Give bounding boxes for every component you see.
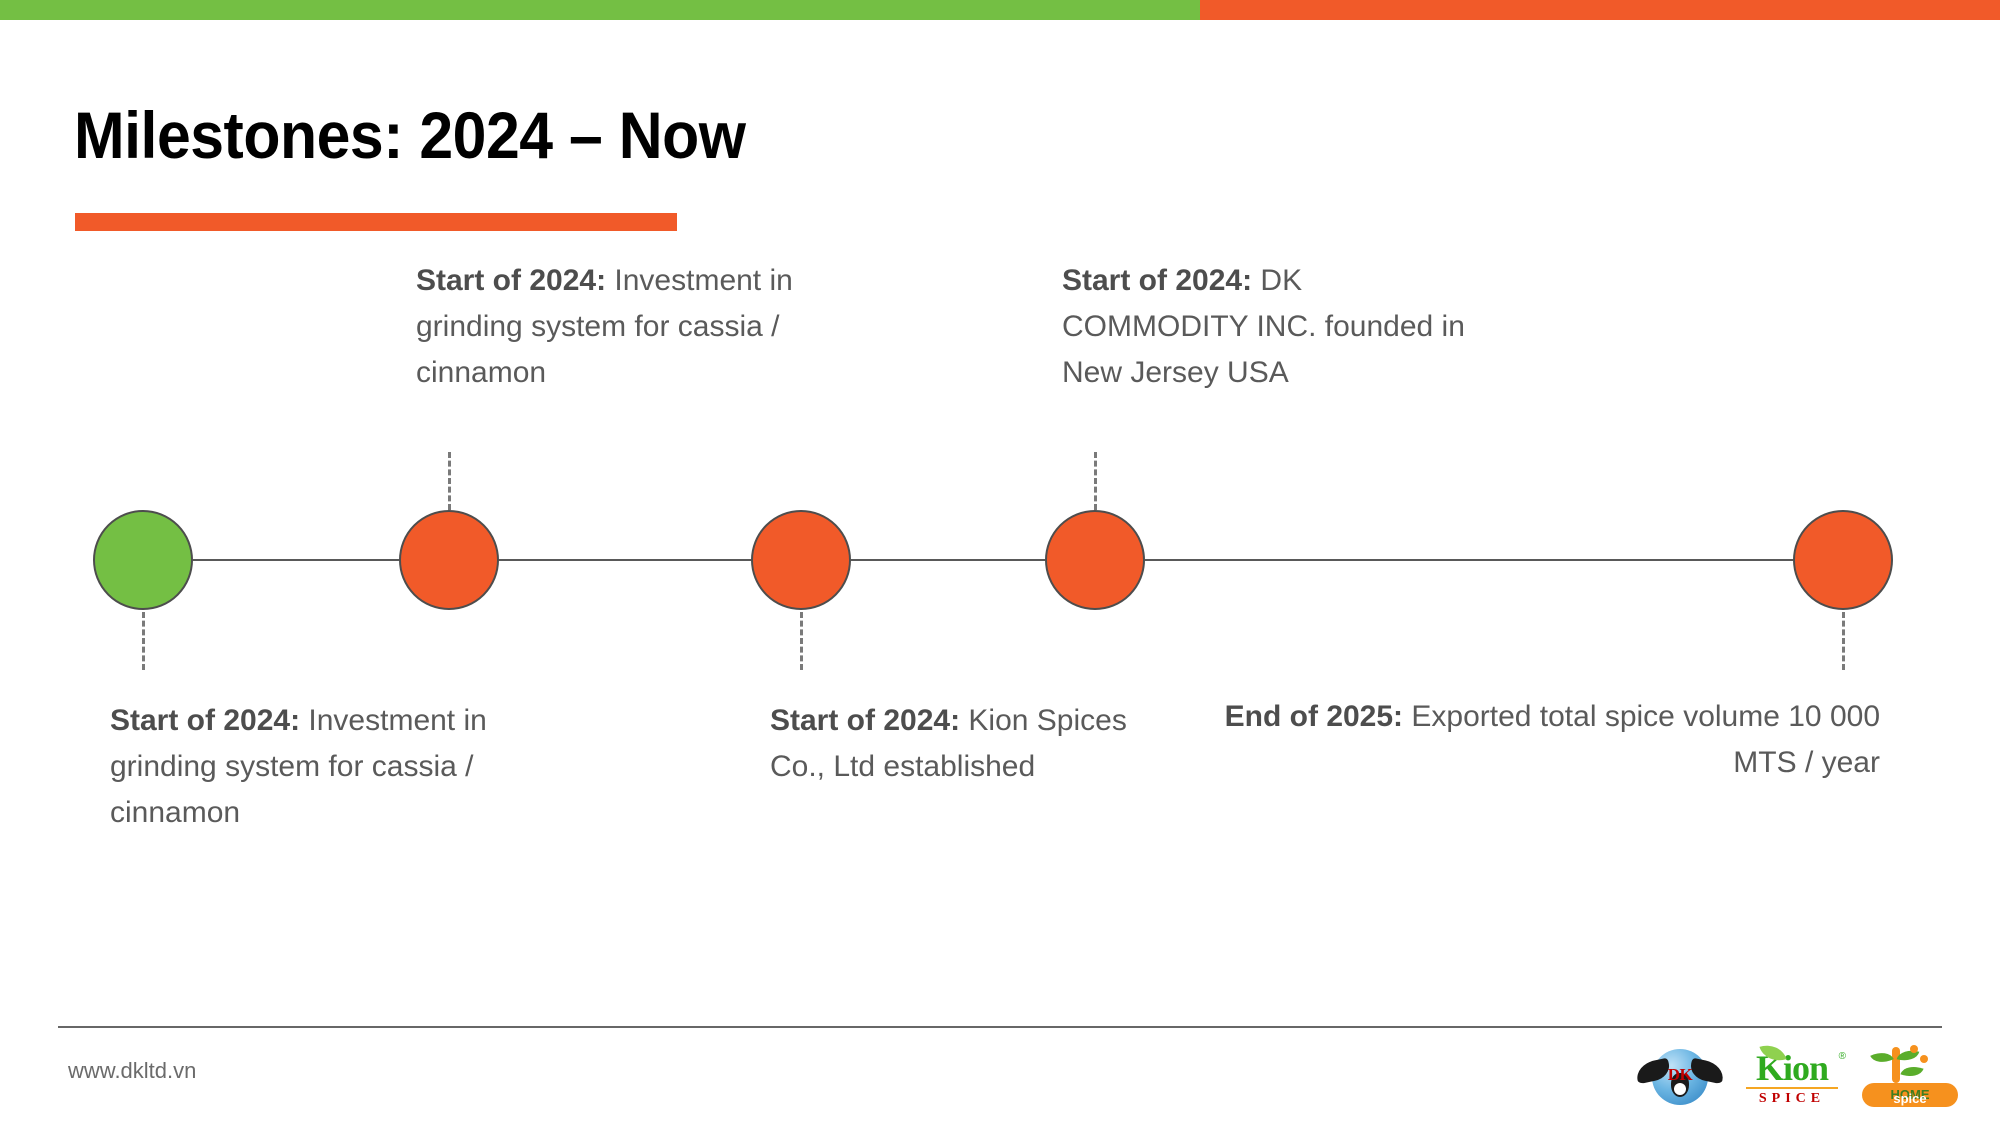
plant-dot-2-icon — [1920, 1055, 1928, 1063]
kion-rule-divider — [1746, 1087, 1838, 1089]
spice-word: spice — [1862, 1091, 1958, 1106]
plant-dot-1-icon — [1910, 1045, 1918, 1053]
leader-dash-node-3 — [800, 612, 803, 670]
timeline-caption-5-body: Exported total spice volume 10 000 MTS /… — [1403, 700, 1880, 779]
timeline-caption-2-lead: Start of 2024: — [416, 264, 606, 297]
timeline-caption-1-lead: Start of 2024: — [110, 704, 300, 737]
top-accent-bar — [0, 0, 2000, 20]
timeline-caption-5: End of 2025: Exported total spice volume… — [1220, 694, 1880, 786]
timeline-node-4[interactable] — [1045, 510, 1145, 610]
leader-dash-node-4 — [1094, 452, 1097, 510]
timeline-node-2[interactable] — [399, 510, 499, 610]
timeline-caption-2: Start of 2024: Investment in grinding sy… — [416, 258, 836, 396]
timeline-caption-3-lead: Start of 2024: — [770, 704, 960, 737]
timeline-segment-4-5 — [1145, 559, 1793, 561]
home-spice-ribbon-text: HOMEspice — [1862, 1087, 1958, 1102]
leader-dash-node-5 — [1842, 612, 1845, 670]
title-underline-accent — [75, 213, 677, 231]
footer-website-url[interactable]: www.dkltd.vn — [68, 1058, 196, 1084]
registered-trademark-icon: ® — [1839, 1051, 1846, 1062]
timeline-segment-2-3 — [499, 559, 751, 561]
top-bar-orange-segment — [1200, 0, 2000, 20]
leader-dash-node-1 — [142, 612, 145, 670]
timeline-segment-1-2 — [193, 559, 399, 561]
home-spice-ribbon: HOMEspice — [1862, 1083, 1958, 1107]
home-spice-logo: HOMEspice — [1862, 1043, 1958, 1111]
footer-divider — [58, 1026, 1942, 1028]
kion-wordmark: Kion — [1736, 1047, 1848, 1089]
kion-subtext: SPICE — [1736, 1091, 1848, 1107]
timeline-node-3[interactable] — [751, 510, 851, 610]
plant-leaf-c-icon — [1900, 1062, 1923, 1081]
timeline-caption-4: Start of 2024: DK COMMODITY INC. founded… — [1062, 258, 1492, 396]
dk-commodity-logo: DK — [1638, 1043, 1722, 1111]
timeline-node-5[interactable] — [1793, 510, 1893, 610]
timeline-caption-5-lead: End of 2025: — [1225, 700, 1403, 733]
timeline-segment-3-4 — [851, 559, 1045, 561]
leader-dash-node-2 — [448, 452, 451, 510]
dk-logo-text: DK — [1638, 1065, 1722, 1085]
page-title: Milestones: 2024 – Now — [74, 96, 746, 174]
top-bar-green-segment — [0, 0, 1200, 20]
timeline-caption-1: Start of 2024: Investment in grinding sy… — [110, 698, 530, 836]
timeline-caption-3: Start of 2024: Kion Spices Co., Ltd esta… — [770, 698, 1130, 790]
plant-leaf-a-icon — [1870, 1047, 1894, 1067]
timeline-caption-4-lead: Start of 2024: — [1062, 264, 1252, 297]
timeline-node-1[interactable] — [93, 510, 193, 610]
plant-stem-icon — [1892, 1047, 1900, 1083]
kion-spice-logo: Kion ® SPICE — [1736, 1043, 1848, 1111]
footer-logo-group: DK Kion ® SPICE HOMEspice — [1638, 1042, 1958, 1112]
